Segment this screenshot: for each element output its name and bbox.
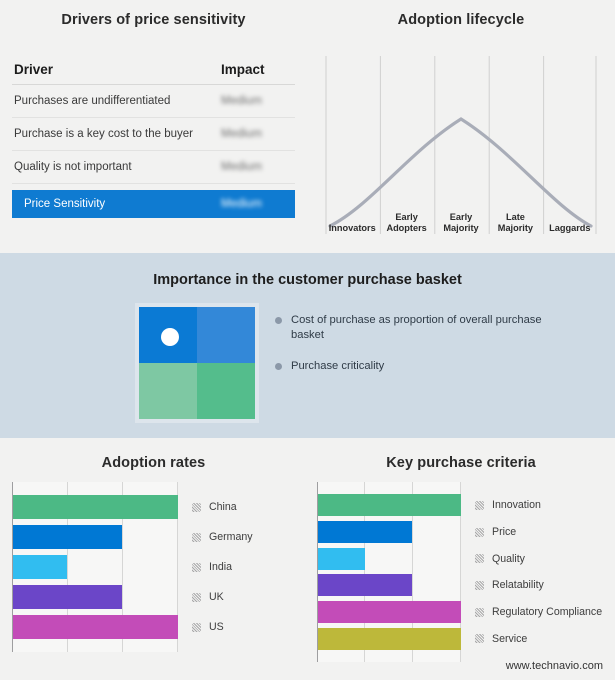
bar-track [13, 492, 178, 522]
driver-name: Purchases are undifferentiated [14, 95, 221, 107]
bar-price[interactable] [318, 521, 412, 543]
legend-item-india[interactable]: India [192, 552, 297, 582]
legend-label: India [209, 561, 232, 573]
legend-item-innovation[interactable]: Innovation [475, 492, 613, 519]
adoption-rates-title: Adoption rates [0, 455, 307, 471]
legend-item-regulatory-compliance[interactable]: Regulatory Compliance [475, 599, 613, 626]
bar-track [318, 519, 461, 546]
impact-value-blurred: Medium [221, 128, 293, 140]
legend-label: Quality [492, 553, 525, 565]
quadrant-matrix [139, 307, 255, 419]
lifecycle-stage-labels: Innovators Early Adopters Early Majority… [325, 196, 597, 236]
stage-line-1: Late [506, 212, 525, 223]
legend-label: Service [492, 633, 527, 645]
bar-quality[interactable] [318, 548, 365, 570]
drivers-panel-title: Drivers of price sensitivity [0, 12, 307, 28]
key-purchase-criteria-bars [318, 492, 461, 652]
list-item: Purchase criticality [275, 359, 575, 374]
legend-item-us[interactable]: US [192, 612, 297, 642]
bottom-row-section: Adoption rates China [0, 438, 615, 680]
basket-section-title: Importance in the customer purchase bask… [0, 272, 615, 288]
basket-legend-label: Cost of purchase as proportion of overal… [291, 313, 575, 343]
lifecycle-stage-innovators: Innovators [325, 196, 379, 236]
key-purchase-criteria-plot-area [317, 482, 461, 662]
basket-legend: Cost of purchase as proportion of overal… [275, 313, 575, 390]
bar-track [13, 552, 178, 582]
bar-track [318, 599, 461, 626]
stage-line-1: Early [395, 212, 417, 223]
bar-us[interactable] [13, 615, 178, 640]
legend-item-germany[interactable]: Germany [192, 522, 297, 552]
lifecycle-stage-laggards: Laggards [543, 196, 597, 236]
legend-item-price[interactable]: Price [475, 519, 613, 546]
adoption-lifecycle-panel: Adoption lifecycle Innovators Early Adop… [307, 0, 615, 253]
legend-item-uk[interactable]: UK [192, 582, 297, 612]
lifecycle-panel-title: Adoption lifecycle [307, 12, 615, 28]
bar-germany[interactable] [13, 525, 122, 550]
legend-swatch-icon [192, 563, 201, 572]
drivers-of-price-sensitivity-panel: Drivers of price sensitivity Driver Impa… [0, 0, 307, 253]
stage-line-2: Innovators [329, 223, 376, 234]
bar-track [13, 522, 178, 552]
legend-label: UK [209, 591, 224, 603]
stage-line-2: Majority [443, 223, 478, 234]
bar-track [318, 625, 461, 652]
quadrant-cell-bottom-left[interactable] [139, 363, 197, 419]
bar-india[interactable] [13, 555, 67, 580]
bar-track [13, 582, 178, 612]
impact-value-blurred: Medium [221, 95, 293, 107]
lifecycle-stage-early-majority: Early Majority [434, 196, 488, 236]
bullet-icon [275, 363, 282, 370]
legend-item-service[interactable]: Service [475, 625, 613, 652]
list-item: Cost of purchase as proportion of overal… [275, 313, 575, 343]
drivers-table-header: Driver Impact [12, 62, 295, 85]
driver-name: Purchase is a key cost to the buyer [14, 128, 221, 140]
legend-swatch-icon [192, 623, 201, 632]
bar-uk[interactable] [13, 585, 122, 610]
footer-website-url[interactable]: www.technavio.com [506, 660, 603, 672]
adoption-rates-plot-area [12, 482, 178, 652]
column-header-impact: Impact [221, 62, 293, 77]
quadrant-cell-top-right[interactable] [197, 307, 255, 363]
adoption-rates-bars [13, 492, 178, 642]
table-row[interactable]: Quality is not important Medium [12, 151, 295, 184]
legend-label: China [209, 501, 237, 513]
bar-innovation[interactable] [318, 494, 461, 516]
adoption-rates-bar-chart: China Germany India UK US [12, 482, 297, 652]
bar-track [318, 492, 461, 519]
driver-name: Quality is not important [14, 161, 221, 173]
legend-label: US [209, 621, 224, 633]
basket-legend-label: Purchase criticality [291, 359, 384, 374]
legend-swatch-icon [192, 593, 201, 602]
legend-item-relatability[interactable]: Relatability [475, 572, 613, 599]
impact-value-blurred: Medium [221, 161, 293, 173]
drivers-table: Driver Impact Purchases are undifferenti… [12, 62, 295, 218]
driver-name: Price Sensitivity [24, 198, 221, 210]
stage-line-1: Early [450, 212, 472, 223]
top-row-section: Drivers of price sensitivity Driver Impa… [0, 0, 615, 253]
bar-regulatory-compliance[interactable] [318, 601, 461, 623]
adoption-rates-legend: China Germany India UK US [178, 482, 297, 652]
legend-swatch-icon [475, 554, 484, 563]
bar-china[interactable] [13, 495, 178, 520]
bar-service[interactable] [318, 628, 461, 650]
legend-label: Germany [209, 531, 253, 543]
legend-label: Regulatory Compliance [492, 606, 602, 618]
quadrant-position-marker [161, 328, 179, 346]
key-purchase-criteria-legend: Innovation Price Quality Relatability Re… [461, 482, 613, 662]
lifecycle-stage-late-majority: Late Majority [488, 196, 542, 236]
bar-track [13, 612, 178, 642]
legend-swatch-icon [475, 528, 484, 537]
quadrant-matrix-container [135, 303, 259, 423]
bar-track [318, 545, 461, 572]
key-purchase-criteria-title: Key purchase criteria [307, 455, 615, 471]
table-row-highlighted[interactable]: Price Sensitivity Medium [12, 190, 295, 218]
key-purchase-criteria-panel: Key purchase criteria [307, 438, 615, 680]
bullet-icon [275, 317, 282, 324]
quadrant-cell-bottom-right[interactable] [197, 363, 255, 419]
legend-swatch-icon [475, 634, 484, 643]
impact-value-blurred: Medium [221, 198, 293, 210]
legend-swatch-icon [475, 608, 484, 617]
stage-line-2: Majority [498, 223, 533, 234]
bar-relatability[interactable] [318, 574, 412, 596]
column-header-driver: Driver [14, 62, 221, 77]
legend-label: Relatability [492, 579, 544, 591]
key-purchase-criteria-bar-chart: Innovation Price Quality Relatability Re… [317, 482, 613, 662]
legend-swatch-icon [475, 501, 484, 510]
adoption-rates-panel: Adoption rates China [0, 438, 307, 680]
table-row[interactable]: Purchases are undifferentiated Medium [12, 85, 295, 118]
legend-label: Innovation [492, 499, 541, 511]
table-row[interactable]: Purchase is a key cost to the buyer Medi… [12, 118, 295, 151]
purchase-basket-importance-section: Importance in the customer purchase bask… [0, 253, 615, 438]
bar-track [318, 572, 461, 599]
stage-line-2: Laggards [549, 223, 590, 234]
stage-line-2: Adopters [386, 223, 426, 234]
legend-item-quality[interactable]: Quality [475, 545, 613, 572]
lifecycle-stage-early-adopters: Early Adopters [379, 196, 433, 236]
legend-swatch-icon [192, 533, 201, 542]
legend-swatch-icon [192, 503, 201, 512]
legend-label: Price [492, 526, 516, 538]
legend-item-china[interactable]: China [192, 492, 297, 522]
legend-swatch-icon [475, 581, 484, 590]
